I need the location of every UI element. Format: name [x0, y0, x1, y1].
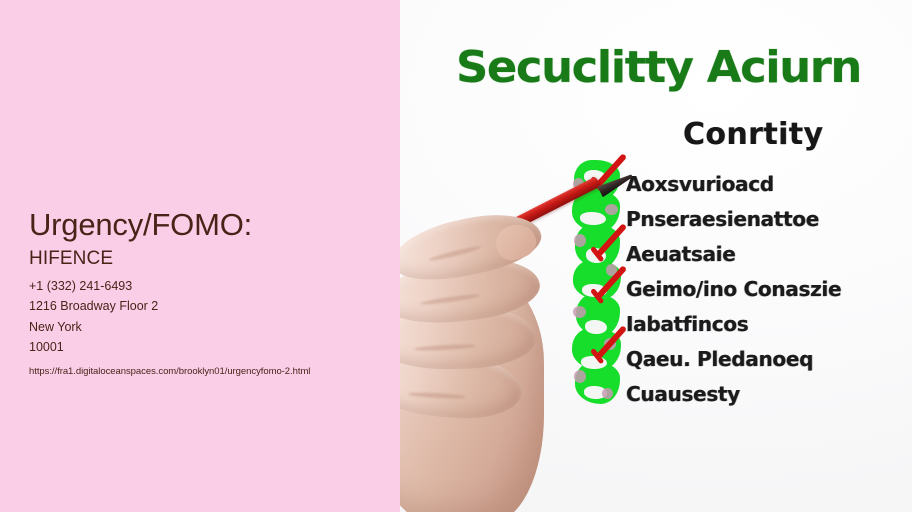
- media-panel: Secuclitty Aciurn Conrtity: [400, 0, 912, 512]
- page-title: Urgency/FOMO:: [29, 208, 379, 241]
- image-heading-primary: Secuclitty Aciurn: [456, 42, 861, 93]
- list-item-label: Iabatfincos: [626, 312, 748, 336]
- list-item-label: Cuausesty: [626, 382, 740, 406]
- info-block: Urgency/FOMO: HIFENCE +1 (332) 241-6493 …: [29, 208, 379, 379]
- list-item-label: Aoxsvurioacd: [626, 172, 774, 196]
- address-city: New York: [29, 317, 379, 337]
- list-item-label: Geimo/ino Conaszie: [626, 277, 841, 301]
- phone-number[interactable]: +1 (332) 241-6493: [29, 276, 379, 296]
- image-heading-secondary: Conrtity: [683, 117, 824, 152]
- list-item[interactable]: Geimo/ino Conaszie: [626, 271, 912, 306]
- list-item-label: Qaeu. Pledanoeq: [626, 347, 813, 371]
- hand-holding-pen: [400, 173, 574, 512]
- promo-card: Urgency/FOMO: HIFENCE +1 (332) 241-6493 …: [0, 0, 912, 512]
- checklist: Aoxsvurioacd Pnseraesienattoe Aeuatsaie …: [626, 166, 912, 411]
- list-item[interactable]: Aeuatsaie: [626, 236, 912, 271]
- list-item[interactable]: Cuausesty: [626, 376, 912, 411]
- list-item[interactable]: Qaeu. Pledanoeq: [626, 341, 912, 376]
- list-item-label: Aeuatsaie: [626, 242, 735, 266]
- source-url-link[interactable]: https://fra1.digitaloceanspaces.com/broo…: [29, 366, 379, 378]
- info-panel: Urgency/FOMO: HIFENCE +1 (332) 241-6493 …: [0, 0, 400, 512]
- address-postal-code: 10001: [29, 337, 379, 357]
- brand-name: HIFENCE: [29, 247, 379, 271]
- list-item-label: Pnseraesienattoe: [626, 207, 819, 231]
- list-item[interactable]: Aoxsvurioacd: [626, 166, 912, 201]
- list-item[interactable]: Iabatfincos: [626, 306, 912, 341]
- list-item[interactable]: Pnseraesienattoe: [626, 201, 912, 236]
- address-line-1: 1216 Broadway Floor 2: [29, 296, 379, 316]
